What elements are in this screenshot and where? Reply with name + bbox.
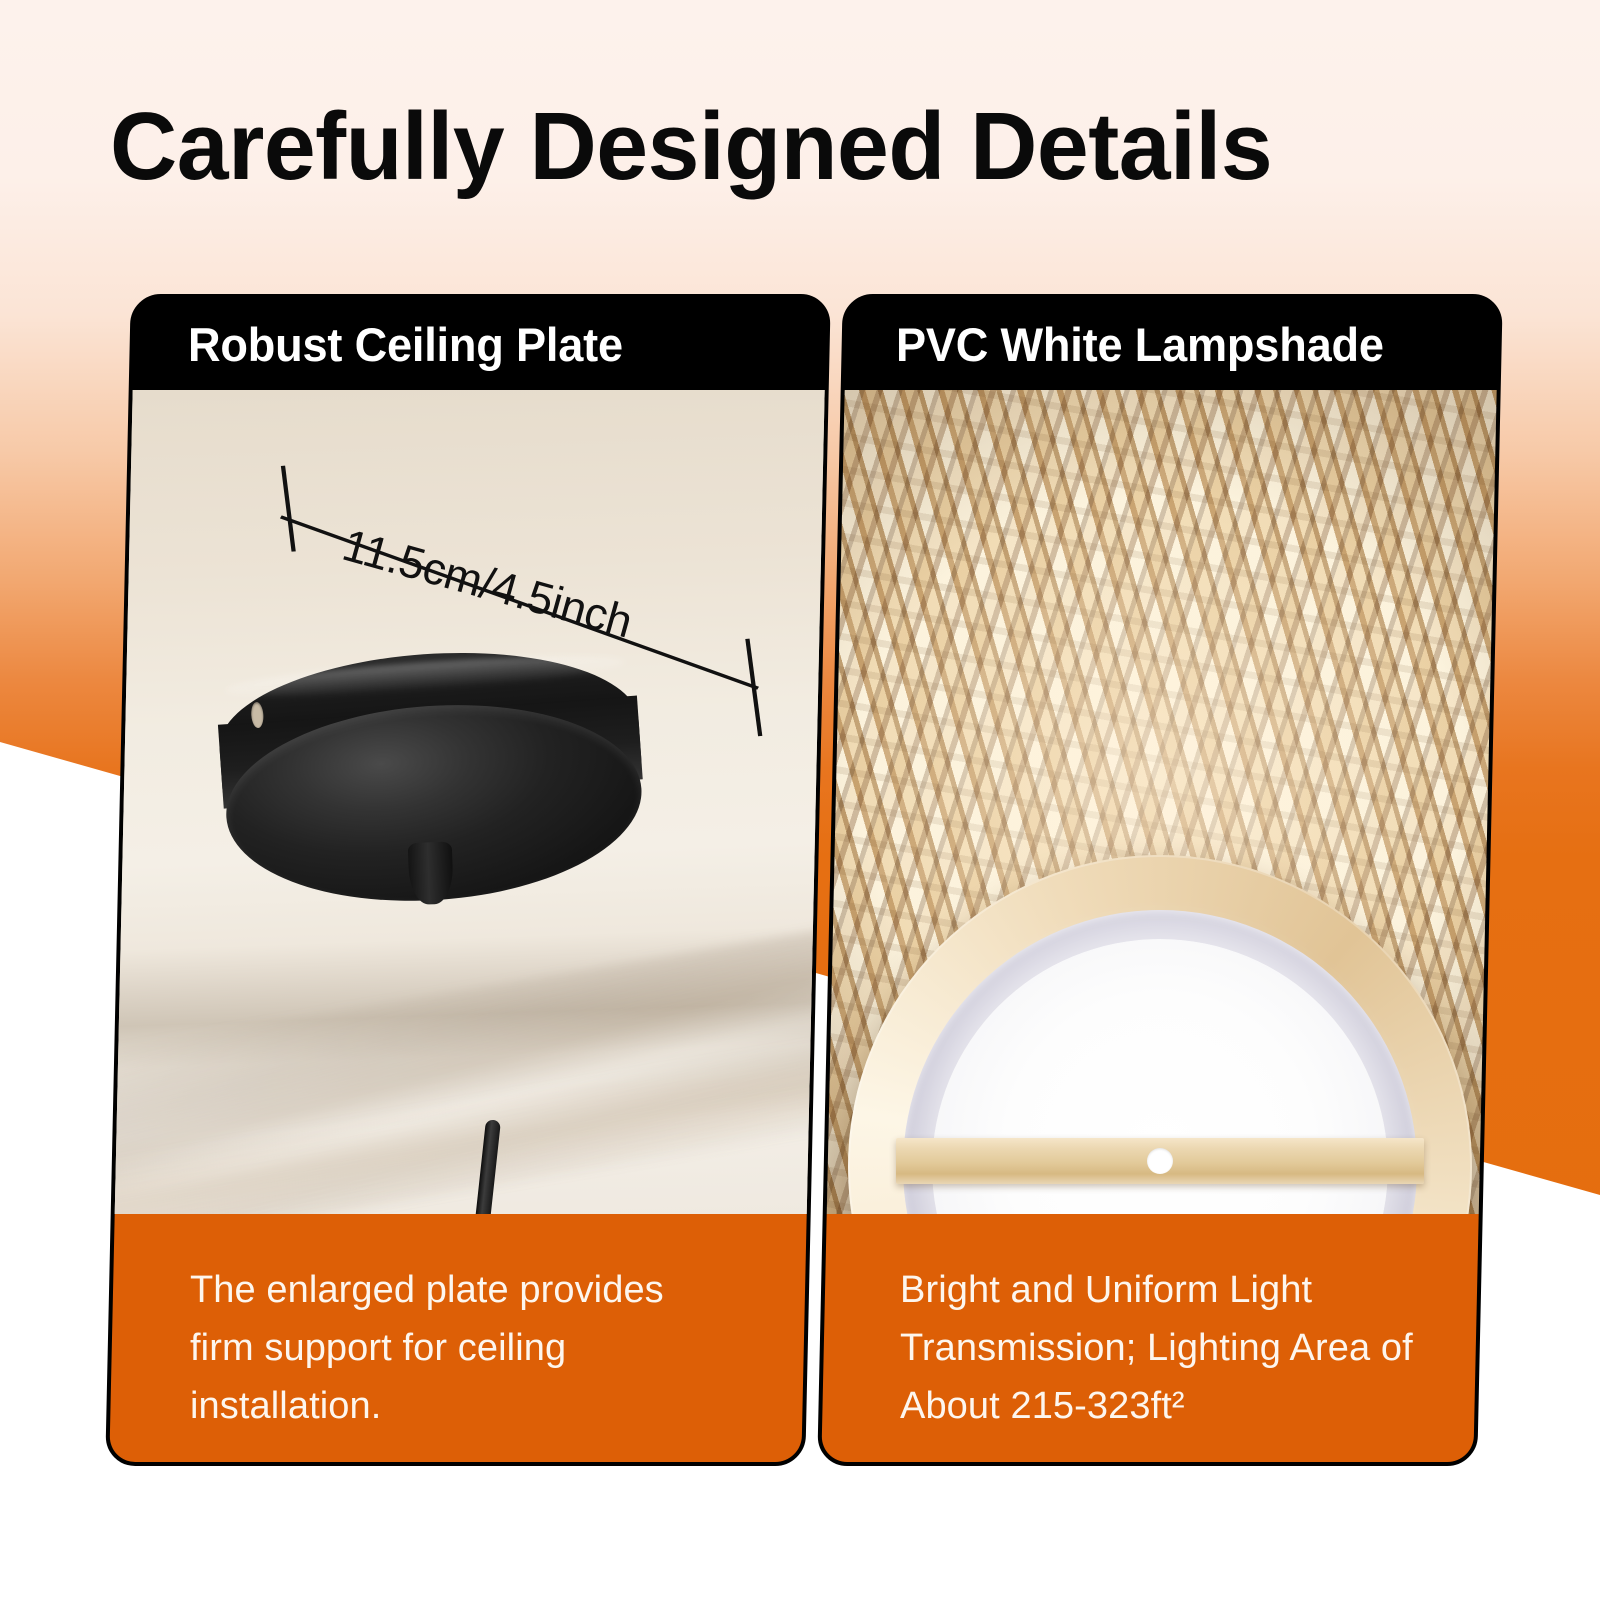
card-header-right: PVC White Lampshade [817,298,1503,390]
caption-text-right: Bright and Uniform Light Transmission; L… [900,1262,1500,1435]
photo-ceiling-plate: 11.5cm/4.5inch [105,390,831,1214]
ceiling-plate-assembly [212,612,652,941]
card-header-title-right: PVC White Lampshade [896,317,1384,372]
card-header-title-left: Robust Ceiling Plate [188,317,623,372]
caption-text-left: The enlarged plate provides firm support… [190,1262,710,1435]
caption-band-left: The enlarged plate provides firm support… [105,1214,831,1462]
page-title: Carefully Designed Details [110,96,1487,198]
crossbar-center-dot [1147,1148,1173,1174]
card-header-left: Robust Ceiling Plate [105,298,831,390]
card-robust-ceiling-plate: Robust Ceiling Plate [105,294,831,1466]
card-inner: Robust Ceiling Plate [105,298,831,1462]
caption-band-right: Bright and Uniform Light Transmission; L… [817,1214,1503,1462]
lampshade-scene [817,390,1503,1214]
ceiling-surface: 11.5cm/4.5inch [105,390,831,1214]
photo-pvc-lampshade [817,390,1503,1214]
card-inner: PVC White Lampshade Bright and Uniform L… [817,298,1503,1462]
card-pvc-white-lampshade: PVC White Lampshade Bright and Uniform L… [817,294,1503,1466]
infographic-canvas: Carefully Designed Details Robust Ceilin… [0,0,1600,1600]
